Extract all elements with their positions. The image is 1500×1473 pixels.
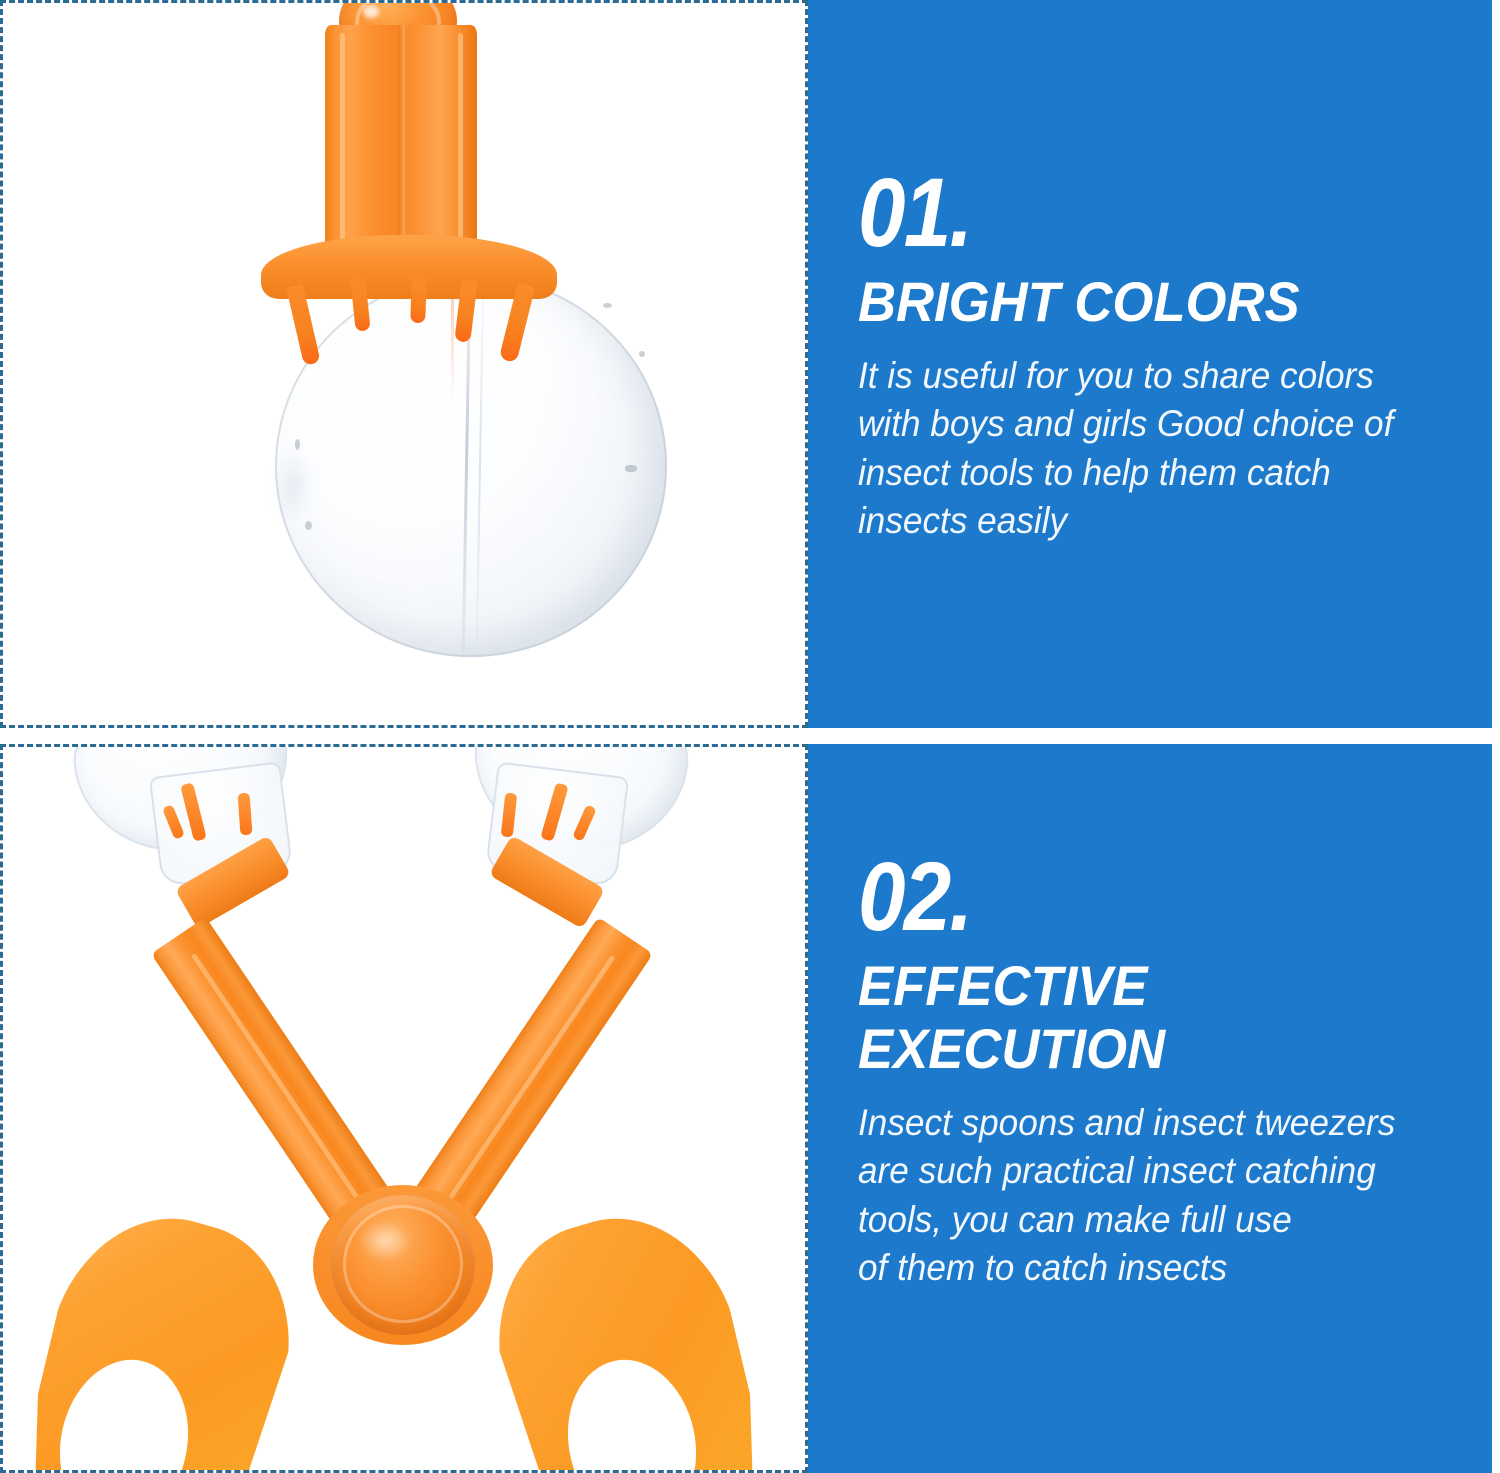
feature-body-01: It is useful for you to share colors wit… [858, 352, 1436, 546]
product-image-effective-execution [0, 744, 808, 1473]
product-image-bright-colors [0, 0, 808, 728]
insect-tweezers-illustration [3, 747, 805, 1470]
feature-copy-panel-02: 02. EFFECTIVE EXECUTION Insect spoons an… [808, 744, 1492, 1473]
feature-headline-01: BRIGHT COLORS [858, 271, 1430, 334]
step-number-01: 01. [858, 168, 1393, 257]
feature-copy-panel-01: 01. BRIGHT COLORS It is useful for you t… [808, 0, 1492, 728]
body-line: insects easily [858, 497, 1436, 545]
body-line: Insect spoons and insect tweezers [858, 1099, 1436, 1147]
bulb-seam-tint [451, 283, 454, 403]
headline-line: EFFECTIVE [858, 954, 1148, 1017]
bulb-speck [305, 521, 312, 530]
pivot-highlight [359, 1221, 411, 1261]
clear-bulb-shadow [271, 445, 315, 527]
bulb-collar [261, 235, 557, 299]
insect-catcher-bulb-illustration [3, 3, 805, 725]
collar-prong [410, 277, 427, 323]
feature-panel-01: 01. BRIGHT COLORS It is useful for you t… [0, 0, 1500, 728]
bulb-speck [295, 439, 300, 450]
body-line: are such practical insect catching [858, 1147, 1436, 1195]
feature-headline-02: EFFECTIVE EXECUTION [858, 955, 1430, 1080]
bulb-speck [639, 351, 645, 357]
bulb-speck [603, 303, 612, 308]
step-number-02: 02. [858, 852, 1393, 941]
feature-panel-02: 02. EFFECTIVE EXECUTION Insect spoons an… [0, 744, 1500, 1473]
body-line: insect tools to help them catch [858, 449, 1436, 497]
headline-line: EXECUTION [858, 1017, 1165, 1080]
handle-pivot-highlight [363, 5, 379, 18]
bulb-speck [625, 465, 637, 472]
clear-bulb-highlight [321, 323, 471, 451]
infographic-page: 01. BRIGHT COLORS It is useful for you t… [0, 0, 1500, 1473]
body-line: with boys and girls Good choice of [858, 400, 1436, 448]
feature-body-02: Insect spoons and insect tweezers are su… [858, 1099, 1436, 1293]
body-line: It is useful for you to share colors [858, 352, 1436, 400]
pivot-ring [343, 1205, 463, 1323]
body-line: of them to catch insects [858, 1244, 1436, 1292]
body-line: tools, you can make full use [858, 1196, 1436, 1244]
